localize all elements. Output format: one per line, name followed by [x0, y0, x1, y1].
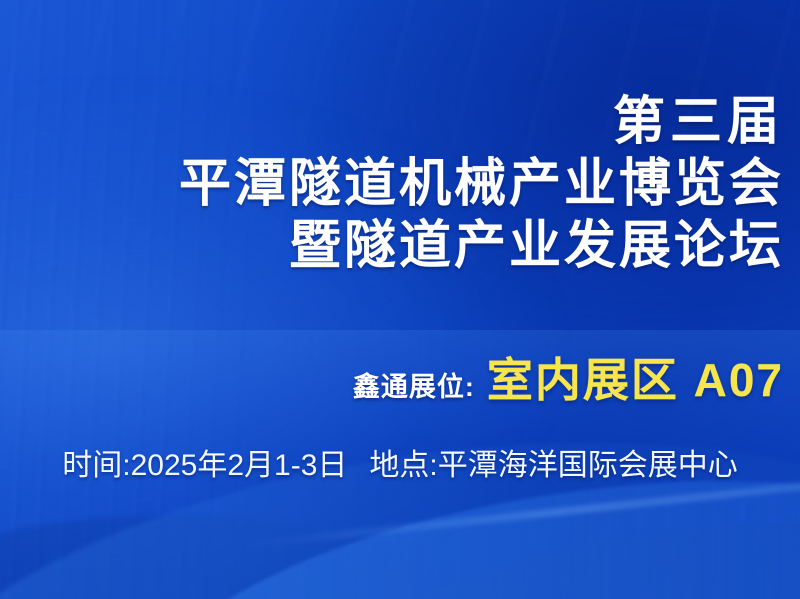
exhibition-banner: 第三届 平潭隧道机械产业博览会 暨隧道产业发展论坛 鑫通展位: 室内展区 A07… [0, 0, 800, 599]
event-meta-row: 时间:2025年2月1-3日 地点:平潭海洋国际会展中心 [0, 440, 800, 484]
event-title-line-1: 第三届 [179, 96, 786, 148]
event-location: 地点:平潭海洋国际会展中心 [369, 440, 737, 484]
booth-label: 鑫通展位: [353, 365, 475, 404]
booth-number: 室内展区 A07 [487, 344, 784, 410]
event-title-line-3: 暨隧道产业发展论坛 [179, 220, 786, 272]
booth-row: 鑫通展位: 室内展区 A07 [353, 344, 784, 410]
event-title-block: 第三届 平潭隧道机械产业博览会 暨隧道产业发展论坛 [179, 96, 786, 272]
banner-content: 第三届 平潭隧道机械产业博览会 暨隧道产业发展论坛 鑫通展位: 室内展区 A07… [0, 0, 800, 599]
event-title-line-2: 平潭隧道机械产业博览会 [179, 158, 786, 210]
event-date: 时间:2025年2月1-3日 [62, 440, 347, 484]
